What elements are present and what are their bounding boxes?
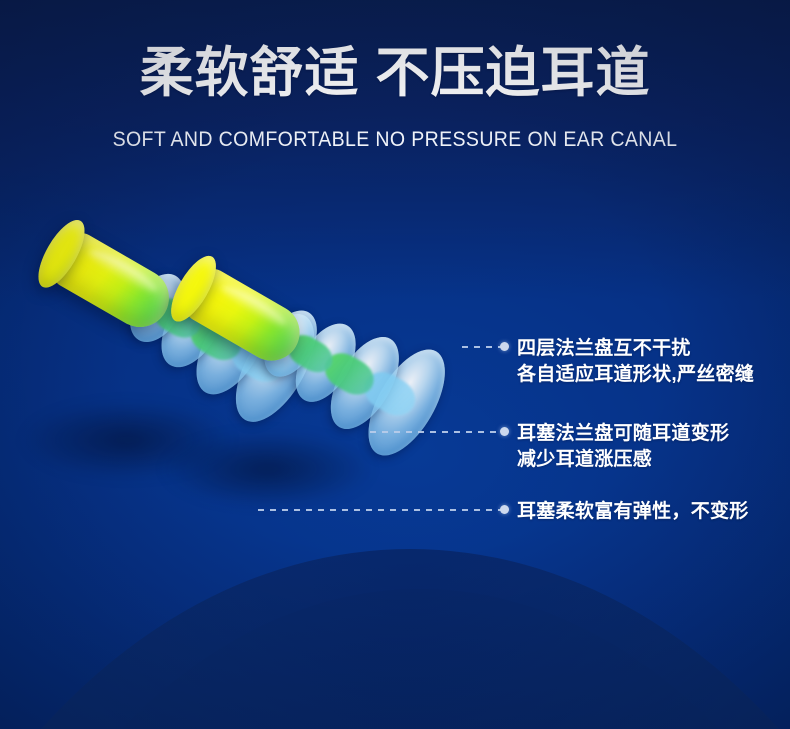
annotation-3-line-1: 耳塞柔软富有弹性，不变形 — [517, 501, 749, 522]
annotation-1-line-1: 四层法兰盘互不干扰 — [517, 338, 691, 359]
page-title: 柔软舒适 不压迫耳道 — [0, 44, 790, 102]
annotation-2-line-1: 耳塞法兰盘可随耳道变形 — [517, 423, 729, 444]
leader-line-2 — [370, 431, 506, 433]
page-subtitle: SOFT AND COMFORTABLE NO PRESSURE ON EAR … — [28, 128, 763, 152]
annotation-deformable-flange: 耳塞法兰盘可随耳道变形 减少耳道涨压感 — [517, 421, 729, 473]
leader-line-3 — [258, 509, 506, 511]
annotation-1-line-2: 各自适应耳道形状,严丝密缝 — [517, 362, 754, 388]
product-feature-banner: 柔软舒适 不压迫耳道 SOFT AND COMFORTABLE NO PRESS… — [0, 0, 790, 729]
leader-dot-1 — [500, 342, 509, 351]
annotation-2-line-2: 减少耳道涨压感 — [517, 447, 729, 473]
annotation-soft-elastic: 耳塞柔软富有弹性，不变形 — [517, 499, 749, 525]
product-image — [10, 215, 480, 525]
annotation-four-flange: 四层法兰盘互不干扰 各自适应耳道形状,严丝密缝 — [517, 336, 754, 388]
leader-dot-2 — [500, 427, 509, 436]
leader-dot-3 — [500, 505, 509, 514]
